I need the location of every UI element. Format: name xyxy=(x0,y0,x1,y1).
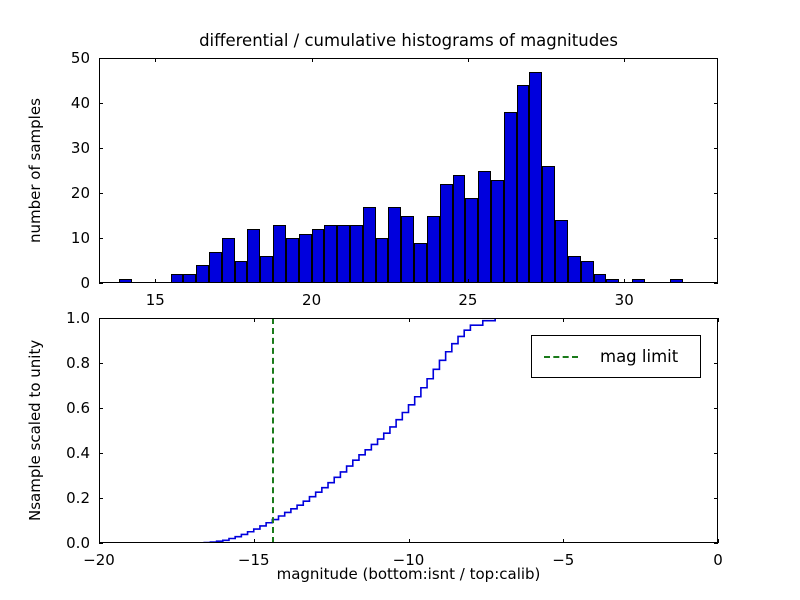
x-tick-bottom xyxy=(409,318,410,322)
histogram-bar xyxy=(581,261,594,284)
histogram-bar xyxy=(504,112,517,283)
y-tick-label-top: 0 xyxy=(52,274,90,292)
histogram-bar xyxy=(427,216,440,284)
histogram-bar xyxy=(299,234,312,284)
histogram-bar xyxy=(414,243,427,284)
y-tick-bottom xyxy=(714,318,718,319)
histogram-bar xyxy=(401,216,414,284)
x-tick-top xyxy=(624,279,625,283)
x-tick-bottom xyxy=(718,318,719,322)
y-tick-bottom xyxy=(99,543,103,544)
histogram-bar xyxy=(363,207,376,284)
histogram-bar xyxy=(568,256,581,283)
x-tick-label-top: 30 xyxy=(615,291,634,309)
histogram-bar xyxy=(632,279,645,284)
y-tick-top xyxy=(99,58,103,59)
y-tick-label-top: 10 xyxy=(52,229,90,247)
histogram-bar xyxy=(542,166,555,283)
x-tick-top xyxy=(624,58,625,62)
y-tick-label-top: 40 xyxy=(52,94,90,112)
legend[interactable]: mag limit xyxy=(531,335,701,378)
histogram-bar xyxy=(171,274,184,283)
x-tick-bottom xyxy=(254,539,255,543)
y-tick-bottom xyxy=(714,543,718,544)
y-tick-label-bottom: 0.4 xyxy=(40,444,90,462)
histogram-bar xyxy=(196,265,209,283)
x-tick-top xyxy=(155,279,156,283)
histogram-bar xyxy=(247,229,260,283)
y-tick-bottom xyxy=(714,408,718,409)
histogram-bar xyxy=(183,274,196,283)
y-tick-bottom xyxy=(99,408,103,409)
y-tick-top xyxy=(99,193,103,194)
y-tick-top xyxy=(714,193,718,194)
x-tick-top xyxy=(468,58,469,62)
histogram-bar xyxy=(312,229,325,283)
x-tick-bottom xyxy=(563,318,564,322)
x-tick-bottom xyxy=(563,539,564,543)
mag-limit-vline xyxy=(272,318,274,543)
y-tick-bottom xyxy=(714,363,718,364)
y-tick-label-top: 20 xyxy=(52,184,90,202)
x-tick-top xyxy=(468,279,469,283)
y-tick-top xyxy=(714,238,718,239)
y-tick-top xyxy=(714,283,718,284)
histogram-bar xyxy=(260,256,273,283)
x-tick-bottom xyxy=(409,539,410,543)
histogram-bar xyxy=(670,279,683,284)
histogram-bar xyxy=(491,180,504,284)
histogram-bar xyxy=(465,198,478,284)
histogram-bar xyxy=(235,261,248,284)
y-tick-label-bottom: 0.8 xyxy=(40,354,90,372)
y-tick-bottom xyxy=(714,498,718,499)
figure-canvas: differential / cumulative histograms of … xyxy=(0,0,800,600)
y-tick-label-bottom: 0.0 xyxy=(40,534,90,552)
histogram-axes xyxy=(99,58,718,283)
x-tick-label-top: 20 xyxy=(302,291,321,309)
histogram-bar xyxy=(376,238,389,283)
y-tick-label-bottom: 0.2 xyxy=(40,489,90,507)
y-tick-label-bottom: 1.0 xyxy=(40,309,90,327)
y-tick-top xyxy=(714,58,718,59)
histogram-bar xyxy=(529,72,542,284)
y-tick-bottom xyxy=(99,318,103,319)
y-tick-top xyxy=(99,148,103,149)
cumulative-axes: mag limit xyxy=(99,318,718,543)
y-tick-top xyxy=(99,103,103,104)
histogram-bar xyxy=(606,279,619,284)
histogram-bar xyxy=(478,171,491,284)
y-tick-bottom xyxy=(99,498,103,499)
x-tick-label-top: 25 xyxy=(458,291,477,309)
y-tick-top xyxy=(714,148,718,149)
x-tick-top xyxy=(155,58,156,62)
legend-mag-limit-swatch xyxy=(544,356,578,358)
y-tick-label-top: 50 xyxy=(52,49,90,67)
y-axis-label-top: number of samples xyxy=(26,98,44,243)
y-tick-label-bottom: 0.6 xyxy=(40,399,90,417)
y-tick-label-top: 30 xyxy=(52,139,90,157)
y-tick-bottom xyxy=(99,363,103,364)
histogram-bar xyxy=(222,238,235,283)
y-tick-top xyxy=(99,238,103,239)
x-tick-bottom xyxy=(254,318,255,322)
y-tick-bottom xyxy=(99,453,103,454)
histogram-bar xyxy=(324,225,337,284)
chart-title: differential / cumulative histograms of … xyxy=(99,31,718,50)
y-tick-bottom xyxy=(714,453,718,454)
histogram-bar xyxy=(350,225,363,284)
histogram-bar xyxy=(286,238,299,283)
histogram-bar xyxy=(209,252,222,284)
histogram-bar xyxy=(555,220,568,283)
legend-mag-limit-label: mag limit xyxy=(600,347,678,366)
histogram-bar xyxy=(440,184,453,283)
x-axis-label: magnitude (bottom:isnt / top:calib) xyxy=(99,565,718,583)
histogram-bar xyxy=(517,85,530,283)
y-axis-label-bottom: Nsample scaled to unity xyxy=(26,340,44,521)
histogram-bar xyxy=(273,225,286,284)
y-tick-top xyxy=(99,283,103,284)
histogram-bar xyxy=(594,274,607,283)
histogram-bar xyxy=(119,279,132,284)
y-tick-top xyxy=(714,103,718,104)
histogram-bar xyxy=(453,175,466,283)
x-tick-label-top: 15 xyxy=(146,291,165,309)
x-tick-top xyxy=(312,279,313,283)
x-tick-bottom xyxy=(718,539,719,543)
histogram-bar xyxy=(337,225,350,284)
histogram-bar xyxy=(388,207,401,284)
x-tick-top xyxy=(312,58,313,62)
